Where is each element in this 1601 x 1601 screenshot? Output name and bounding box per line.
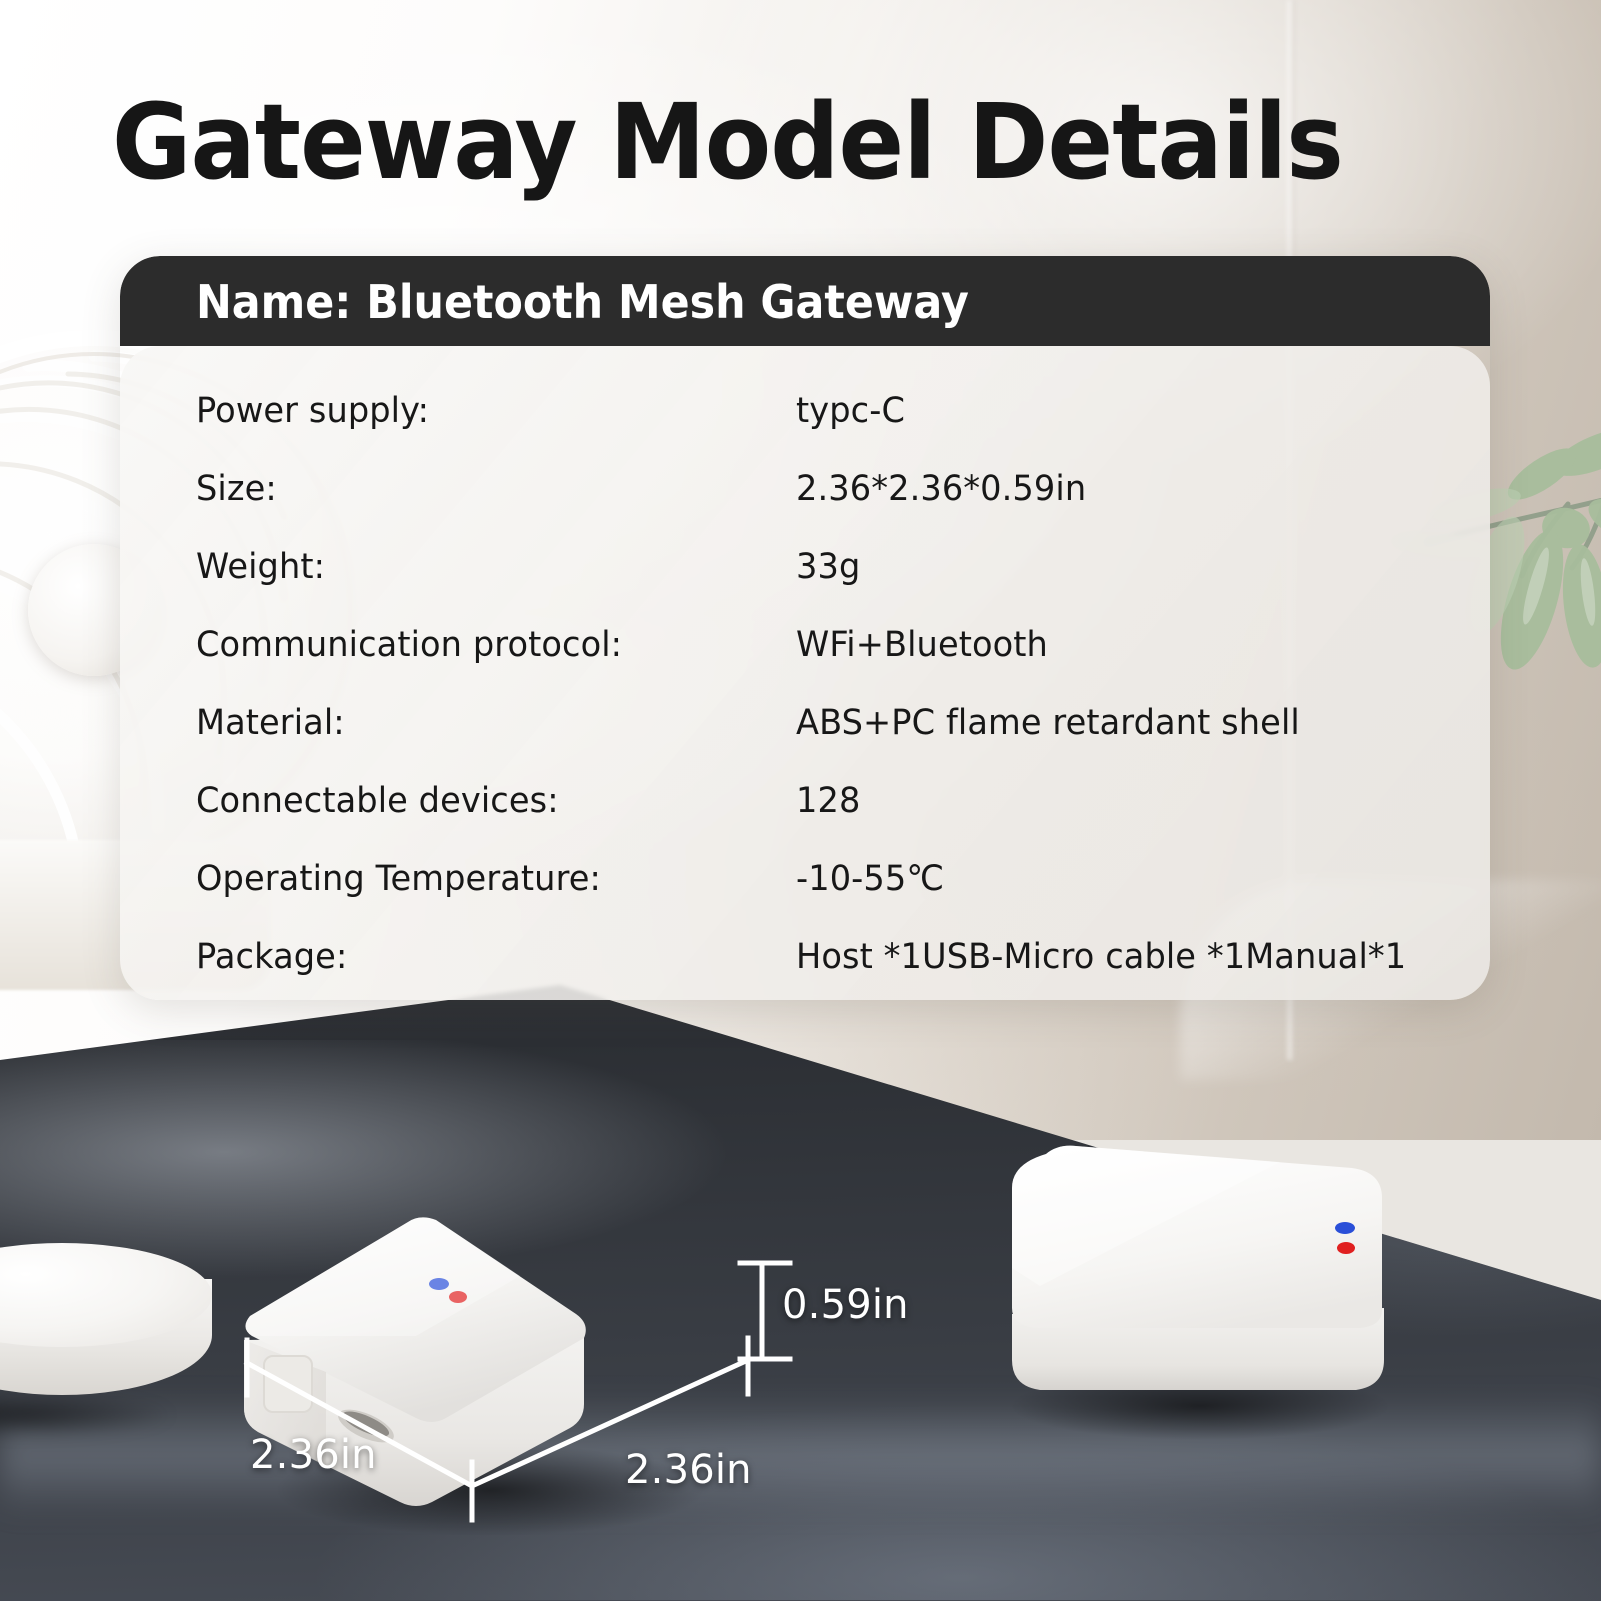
spec-label: Package:: [196, 937, 772, 977]
dimension-width-left-label: 2.36in: [250, 1432, 377, 1478]
spec-value: 128: [796, 781, 1424, 821]
spec-value: 33g: [796, 547, 1424, 587]
spec-label: Communication protocol:: [196, 625, 772, 665]
spec-label: Material:: [196, 703, 772, 743]
spec-row-size: Size: 2.36*2.36*0.59in: [196, 466, 1450, 512]
spec-label: Size:: [196, 469, 772, 509]
spec-label: Operating Temperature:: [196, 859, 772, 899]
spec-row-operating-temperature: Operating Temperature: -10-55℃: [196, 856, 1450, 902]
dimension-width-right-label: 2.36in: [625, 1447, 752, 1493]
spec-rows: Power supply: typc-C Size: 2.36*2.36*0.5…: [120, 346, 1490, 1000]
spec-row-power-supply: Power supply: typc-C: [196, 388, 1450, 434]
spec-value: typc-C: [796, 391, 1424, 431]
spec-row-connectable-devices: Connectable devices: 128: [196, 778, 1450, 824]
spec-row-weight: Weight: 33g: [196, 544, 1450, 590]
spec-row-package: Package: Host *1USB-Micro cable *1Manual…: [196, 934, 1450, 980]
spec-value: WFi+Bluetooth: [796, 625, 1424, 665]
spec-label: Weight:: [196, 547, 772, 587]
spec-row-communication-protocol: Communication protocol: WFi+Bluetooth: [196, 622, 1450, 668]
product-detail-image: 0.59in 2.36in 2.36in Gateway Model Detai…: [0, 0, 1601, 1601]
spec-label: Connectable devices:: [196, 781, 772, 821]
spec-card-header-label: Name: Bluetooth Mesh Gateway: [196, 276, 969, 328]
dimension-height-label: 0.59in: [782, 1282, 909, 1328]
spec-value: 2.36*2.36*0.59in: [796, 469, 1424, 509]
spec-card: Name: Bluetooth Mesh Gateway Power suppl…: [120, 256, 1490, 1000]
spec-value: -10-55℃: [796, 859, 1424, 899]
spec-value: ABS+PC flame retardant shell: [796, 703, 1424, 743]
page-title: Gateway Model Details: [112, 88, 1414, 196]
spec-label: Power supply:: [196, 391, 772, 431]
spec-value: Host *1USB-Micro cable *1Manual*1: [796, 937, 1424, 977]
spec-row-material: Material: ABS+PC flame retardant shell: [196, 700, 1450, 746]
